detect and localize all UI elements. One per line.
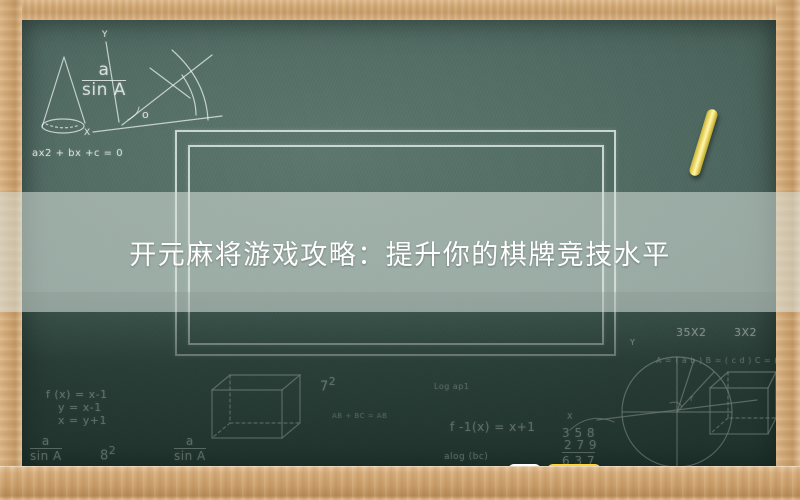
- chalkboard-ledge: [0, 466, 800, 500]
- frame-top: [0, 0, 800, 20]
- board-shading-lower: [22, 292, 776, 466]
- title-overlay-band: 开元麻将游戏攻略：提升你的棋牌竞技水平: [0, 192, 800, 312]
- chalkboard-banner: Y X o a sin A ax2 + bx +c = 0 f (x) = x-…: [0, 0, 800, 500]
- page-title: 开元麻将游戏攻略：提升你的棋牌竞技水平: [129, 233, 671, 272]
